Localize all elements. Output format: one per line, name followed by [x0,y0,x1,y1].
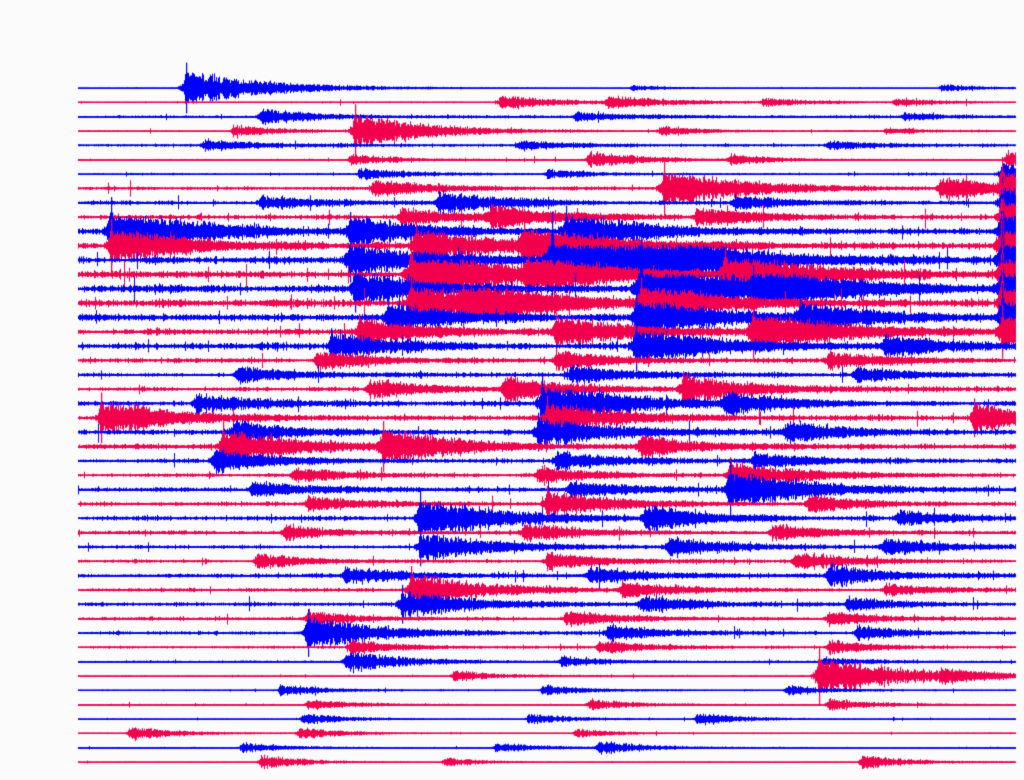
time-tick-0530: 05:30 [40,240,72,251]
time-tick-0900: 09:00 [40,340,72,351]
helicorder-plot: HL Pothia, Kalymnos Isl. (Hospital) 2025… [0,0,1024,780]
time-tick-0200: 02:00 [40,139,72,150]
time-axis: 00:0000:3001:0001:3002:0002:3003:0003:30… [0,82,76,774]
record-date: 2025-02-11 [928,21,1016,39]
time-tick-2300: 23:00 [40,742,72,753]
time-tick-1530: 15:30 [40,527,72,538]
time-tick-0800: 08:00 [40,311,72,322]
time-tick-2100: 21:00 [40,684,72,695]
time-tick-1200: 12:00 [40,426,72,437]
time-tick-1900: 19:00 [40,627,72,638]
time-tick-0300: 03:00 [40,168,72,179]
time-tick-2200: 22:00 [40,713,72,724]
time-tick-1800: 18:00 [40,598,72,609]
time-tick-0330: 03:30 [40,182,72,193]
time-tick-1030: 10:30 [40,383,72,394]
time-tick-0030: 00:30 [40,96,72,107]
time-tick-0500: 05:00 [40,225,72,236]
time-tick-0630: 06:30 [40,268,72,279]
applied-filter-label: Applied filter: WWSSN-SP [8,51,212,69]
time-tick-0100: 01:00 [40,111,72,122]
time-tick-0230: 02:30 [40,154,72,165]
time-tick-2000: 20:00 [40,656,72,667]
time-tick-1730: 17:30 [40,584,72,595]
time-tick-1430: 14:30 [40,498,72,509]
time-tick-0730: 07:30 [40,297,72,308]
time-tick-0600: 06:00 [40,254,72,265]
time-tick-1130: 11:30 [40,412,72,423]
time-tick-2030: 20:30 [40,670,72,681]
time-tick-1930: 19:30 [40,641,72,652]
time-tick-0400: 04:00 [40,197,72,208]
time-tick-0830: 08:30 [40,326,72,337]
time-tick-1330: 13:30 [40,469,72,480]
seismogram-traces [0,0,1024,780]
time-tick-1230: 12:30 [40,441,72,452]
time-tick-1830: 18:30 [40,613,72,624]
time-tick-2330: 23:30 [40,756,72,767]
time-tick-1600: 16:00 [40,541,72,552]
time-tick-1000: 10:00 [40,369,72,380]
time-tick-1630: 16:30 [40,555,72,566]
time-tick-1700: 17:00 [40,570,72,581]
time-tick-0700: 07:00 [40,283,72,294]
time-tick-1100: 11:00 [40,397,72,408]
page-title: HL Pothia, Kalymnos Isl. (Hospital) [8,21,283,39]
time-tick-1300: 13:00 [40,455,72,466]
time-tick-2130: 21:30 [40,699,72,710]
time-tick-0000: 00:00 [40,82,72,93]
time-tick-2230: 22:30 [40,727,72,738]
time-tick-1400: 14:00 [40,484,72,495]
time-tick-1500: 15:00 [40,512,72,523]
time-tick-0130: 01:30 [40,125,72,136]
time-tick-0430: 04:30 [40,211,72,222]
time-tick-0930: 09:30 [40,354,72,365]
